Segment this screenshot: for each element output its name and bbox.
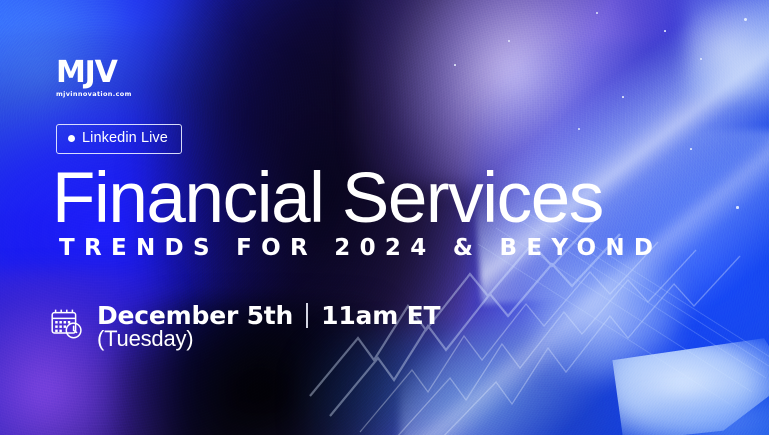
live-dot-icon: [68, 135, 75, 142]
logo-tagline-url: mjvinnovation.com: [56, 91, 132, 98]
page-title: Financial Services: [52, 163, 603, 234]
event-time: 11am ET: [321, 303, 440, 328]
linkedin-live-badge-label: Linkedin Live: [82, 131, 168, 146]
mjv-logo: MJV mjvinnovation.com: [56, 58, 132, 98]
page-subtitle: TRENDS FOR 2024 & BEYOND: [59, 237, 662, 260]
event-weekday: (Tuesday): [97, 326, 193, 351]
webinar-promo-banner: MJV mjvinnovation.com Linkedin Live Fina…: [0, 0, 769, 435]
event-datetime: December 5th 11am ET (Tuesday): [50, 303, 440, 350]
logo-wordmark: MJV: [56, 58, 132, 88]
linkedin-live-badge: Linkedin Live: [56, 124, 182, 154]
banner-content: MJV mjvinnovation.com Linkedin Live Fina…: [0, 0, 769, 435]
event-date-time-row: December 5th 11am ET: [97, 303, 440, 328]
event-datetime-text: December 5th 11am ET (Tuesday): [97, 303, 440, 350]
vertical-divider: [306, 303, 308, 328]
event-date: December 5th: [97, 303, 293, 328]
calendar-clock-icon: [50, 307, 83, 345]
